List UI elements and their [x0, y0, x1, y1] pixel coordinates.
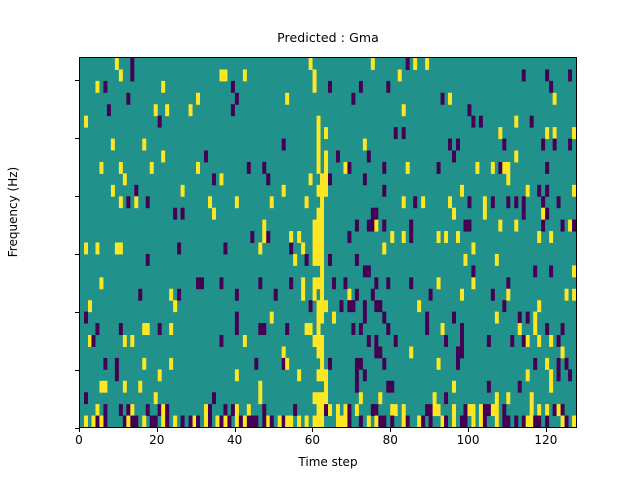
- x-tick-mark: [546, 428, 547, 432]
- x-tick-mark: [390, 428, 391, 432]
- x-tick-mark: [312, 428, 313, 432]
- x-tick-mark: [79, 428, 80, 432]
- x-tick-label: 100: [457, 433, 480, 447]
- heatmap-image: [80, 58, 576, 427]
- x-tick-label: 20: [149, 433, 164, 447]
- x-tick-label: 0: [75, 433, 83, 447]
- x-tick-label: 60: [305, 433, 320, 447]
- x-tick-mark: [235, 428, 236, 432]
- y-axis-label: Frequency (Hz): [6, 102, 20, 322]
- x-tick-label: 120: [534, 433, 557, 447]
- heatmap-axes[interactable]: [79, 57, 577, 428]
- x-axis-label: Time step: [79, 455, 577, 469]
- matplotlib-figure: Predicted : Gma Frequency (Hz) Time step…: [0, 0, 640, 480]
- x-tick-label: 80: [383, 433, 398, 447]
- x-tick-label: 40: [227, 433, 242, 447]
- x-tick-mark: [157, 428, 158, 432]
- chart-title: Predicted : Gma: [79, 30, 577, 45]
- x-tick-mark: [468, 428, 469, 432]
